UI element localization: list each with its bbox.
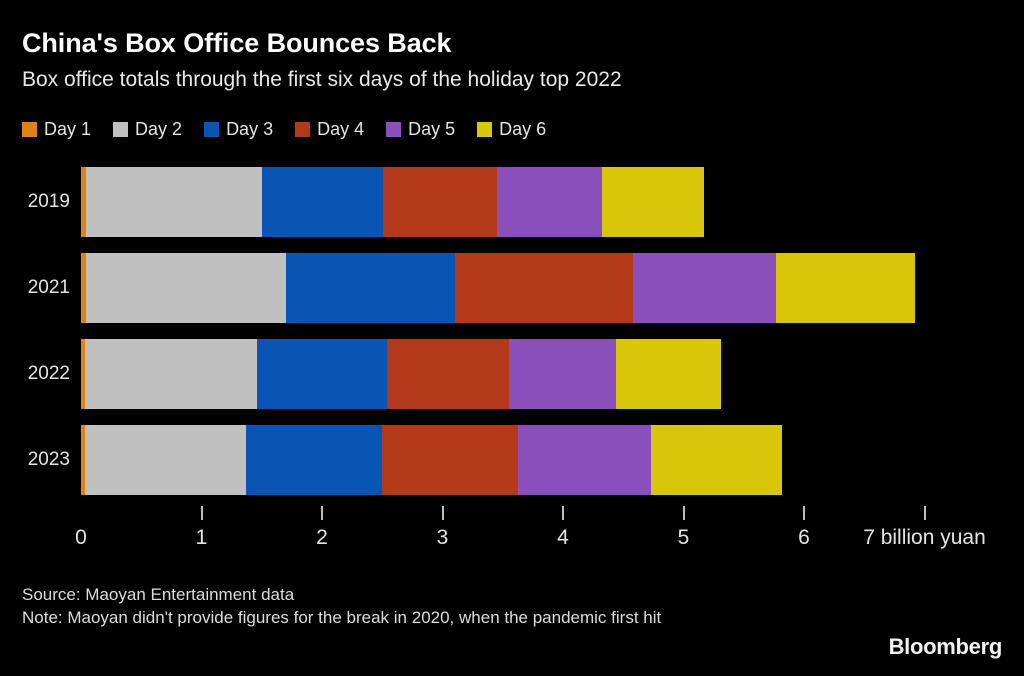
bar-segment-day-2: [86, 167, 262, 237]
axis-tick: [924, 506, 926, 520]
bar-segment-day-6: [616, 339, 721, 409]
legend-label: Day 6: [499, 119, 546, 140]
stacked-bar-2023: [0, 425, 1024, 495]
bar-row: 2019: [0, 167, 1024, 237]
legend-label: Day 1: [44, 119, 91, 140]
bloomberg-logo: Bloomberg: [889, 634, 1002, 660]
chart-plot-area: 2019202120222023: [0, 155, 1024, 505]
legend-swatch-icon: [295, 122, 310, 137]
chart-legend: Day 1Day 2Day 3Day 4Day 5Day 6: [22, 119, 568, 140]
bar-segment-day-4: [383, 167, 496, 237]
legend-item-day-1[interactable]: Day 1: [22, 119, 91, 140]
chart-page: China's Box Office Bounces Back Box offi…: [0, 0, 1024, 676]
legend-item-day-5[interactable]: Day 5: [386, 119, 455, 140]
legend-swatch-icon: [477, 122, 492, 137]
bar-segment-day-3: [262, 167, 384, 237]
axis-tick-label: 3: [437, 526, 449, 550]
axis-tick: [562, 506, 564, 520]
stacked-bar-2019: [0, 167, 1024, 237]
legend-label: Day 5: [408, 119, 455, 140]
legend-item-day-4[interactable]: Day 4: [295, 119, 364, 140]
axis-tick-label: 4: [557, 526, 569, 550]
page-subtitle: Box office totals through the first six …: [22, 68, 622, 92]
axis-tick: [683, 506, 685, 520]
legend-swatch-icon: [113, 122, 128, 137]
bar-segment-day-5: [497, 167, 602, 237]
legend-item-day-6[interactable]: Day 6: [477, 119, 546, 140]
bar-segment-day-6: [776, 253, 915, 323]
bar-row: 2022: [0, 339, 1024, 409]
legend-item-day-2[interactable]: Day 2: [113, 119, 182, 140]
page-title: China's Box Office Bounces Back: [22, 28, 451, 59]
bar-segment-day-4: [382, 425, 518, 495]
bar-segment-day-2: [85, 425, 246, 495]
bar-row: 2023: [0, 425, 1024, 495]
bar-segment-day-6: [602, 167, 704, 237]
x-axis: 01234567 billion yuan: [0, 498, 1024, 560]
axis-tick-label: 5: [678, 526, 690, 550]
bar-segment-day-5: [633, 253, 776, 323]
legend-label: Day 2: [135, 119, 182, 140]
bar-row: 2021: [0, 253, 1024, 323]
bar-segment-day-3: [257, 339, 387, 409]
bar-segment-day-3: [246, 425, 382, 495]
axis-tick: [803, 506, 805, 520]
legend-label: Day 4: [317, 119, 364, 140]
axis-tick-label: 1: [196, 526, 208, 550]
axis-tick: [442, 506, 444, 520]
bar-segment-day-6: [651, 425, 782, 495]
method-note: Note: Maoyan didn't provide figures for …: [22, 606, 812, 629]
axis-tick-label: 7 billion yuan: [863, 526, 986, 550]
bar-segment-day-2: [86, 253, 286, 323]
source-note: Source: Maoyan Entertainment data: [22, 583, 812, 606]
legend-swatch-icon: [386, 122, 401, 137]
bar-segment-day-5: [518, 425, 651, 495]
axis-tick-label: 0: [75, 526, 87, 550]
axis-tick-label: 2: [316, 526, 328, 550]
axis-tick: [321, 506, 323, 520]
legend-item-day-3[interactable]: Day 3: [204, 119, 273, 140]
legend-swatch-icon: [22, 122, 37, 137]
bar-segment-day-5: [509, 339, 616, 409]
legend-swatch-icon: [204, 122, 219, 137]
bar-segment-day-3: [286, 253, 455, 323]
chart-footnotes: Source: Maoyan Entertainment data Note: …: [22, 583, 812, 629]
stacked-bar-2022: [0, 339, 1024, 409]
axis-tick-label: 6: [798, 526, 810, 550]
axis-tick: [201, 506, 203, 520]
stacked-bar-2021: [0, 253, 1024, 323]
bar-segment-day-2: [85, 339, 257, 409]
bar-segment-day-4: [455, 253, 633, 323]
legend-label: Day 3: [226, 119, 273, 140]
bar-segment-day-4: [387, 339, 509, 409]
